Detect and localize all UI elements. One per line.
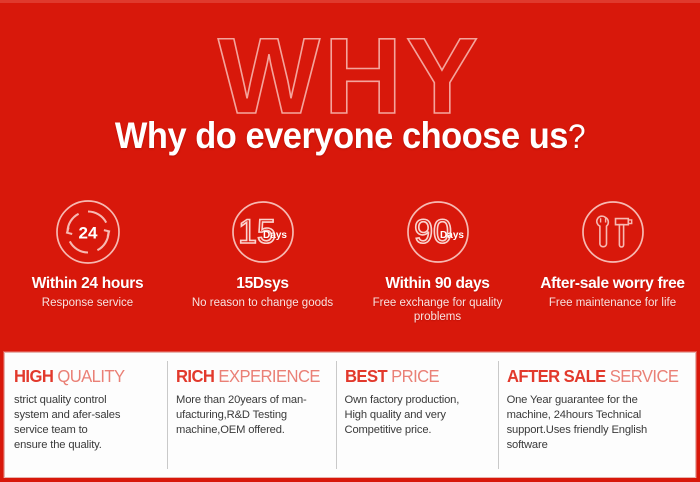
benefit-heading-light: SERVICE: [609, 366, 678, 386]
benefit-body: strict quality control system and afer-s…: [14, 393, 159, 452]
benefit-body-line: machine, 24hours Technical: [507, 408, 687, 423]
benefit-heading-light: PRICE: [391, 366, 439, 386]
benefit-body: One Year guarantee for the machine, 24ho…: [507, 393, 687, 452]
benefit-body-line: machine,OEM offered.: [176, 423, 327, 438]
benefit-body-line: High quality and very: [345, 408, 490, 423]
feature-row: 24 Within 24 hours Response service 15 D…: [0, 196, 700, 346]
hero-top-highlight: [0, 0, 700, 3]
benefit-column-after-sale-service: AFTER SALE SERVICE One Year guarantee fo…: [498, 353, 695, 477]
benefit-column-high-quality: HIGH QUALITY strict quality control syst…: [5, 353, 167, 477]
benefit-heading-light: QUALITY: [57, 366, 124, 386]
benefit-heading-strong: AFTER SALE: [507, 366, 606, 386]
benefit-heading-strong: HIGH: [14, 366, 53, 386]
feature-item-after-sale: After-sale worry free Free maintenance f…: [525, 196, 700, 346]
benefits-panel: HIGH QUALITY strict quality control syst…: [4, 352, 696, 478]
benefit-body-line: Competitive price.: [345, 423, 490, 438]
feature-subtitle: Free exchange for quality problems: [360, 296, 515, 325]
benefit-heading: HIGH QUALITY: [14, 367, 152, 385]
headline-question-mark: ?: [568, 118, 585, 156]
benefit-body-line: ufacturing,R&D Testing: [176, 408, 327, 423]
feature-item-24-hours: 24 Within 24 hours Response service: [0, 196, 175, 346]
benefit-column-rich-experience: RICH EXPERIENCE More than 20years of man…: [167, 353, 335, 477]
benefit-body-line: One Year guarantee for the: [507, 393, 687, 408]
benefit-body-line: service team to: [14, 423, 159, 438]
feature-title: Within 24 hours: [32, 275, 144, 293]
feature-subtitle: Response service: [42, 296, 133, 310]
footer-red-bar: [0, 478, 700, 482]
benefit-body-line: software: [507, 438, 687, 453]
feature-title: 15Dsys: [236, 275, 289, 293]
why-watermark-text: WHY: [0, 22, 700, 130]
page-title: Why do everyone choose us?: [25, 115, 676, 157]
benefit-body-line: ensure the quality.: [14, 438, 159, 453]
benefit-heading-strong: BEST: [345, 366, 387, 386]
feature-title: After-sale worry free: [540, 275, 684, 293]
15-days-circle-icon: 15 Days: [227, 196, 299, 268]
90-days-circle-icon: 90 Days: [402, 196, 474, 268]
benefit-body: Own factory production, High quality and…: [345, 393, 490, 437]
clock-24-hours-icon: 24: [52, 196, 124, 268]
benefit-heading: RICH EXPERIENCE: [176, 367, 320, 385]
benefit-body: More than 20years of man- ufacturing,R&D…: [176, 393, 327, 437]
benefit-body-line: system and afer-sales: [14, 408, 159, 423]
svg-text:24: 24: [78, 224, 97, 243]
feature-title: Within 90 days: [385, 275, 489, 293]
feature-item-90-days: 90 Days Within 90 days Free exchange for…: [350, 196, 525, 346]
svg-text:Days: Days: [440, 230, 464, 241]
benefit-heading-light: EXPERIENCE: [218, 366, 319, 386]
wrench-hammer-icon: [577, 196, 649, 268]
benefit-heading-strong: RICH: [176, 366, 214, 386]
feature-subtitle: No reason to change goods: [192, 296, 333, 310]
headline-text: Why do everyone choose us: [115, 115, 568, 156]
benefit-body-line: More than 20years of man-: [176, 393, 327, 408]
benefit-body-line: Own factory production,: [345, 393, 490, 408]
benefit-heading: BEST PRICE: [345, 367, 483, 385]
hero-banner: WHY Why do everyone choose us? 24 Within…: [0, 0, 700, 350]
svg-text:Days: Days: [263, 230, 287, 241]
benefit-column-best-price: BEST PRICE Own factory production, High …: [336, 353, 498, 477]
feature-subtitle: Free maintenance for life: [549, 296, 676, 310]
benefit-body-line: support.Uses friendly English: [507, 423, 687, 438]
benefit-heading: AFTER SALE SERVICE: [507, 367, 678, 385]
feature-item-15-days: 15 Days 15Dsys No reason to change goods: [175, 196, 350, 346]
benefit-body-line: strict quality control: [14, 393, 159, 408]
